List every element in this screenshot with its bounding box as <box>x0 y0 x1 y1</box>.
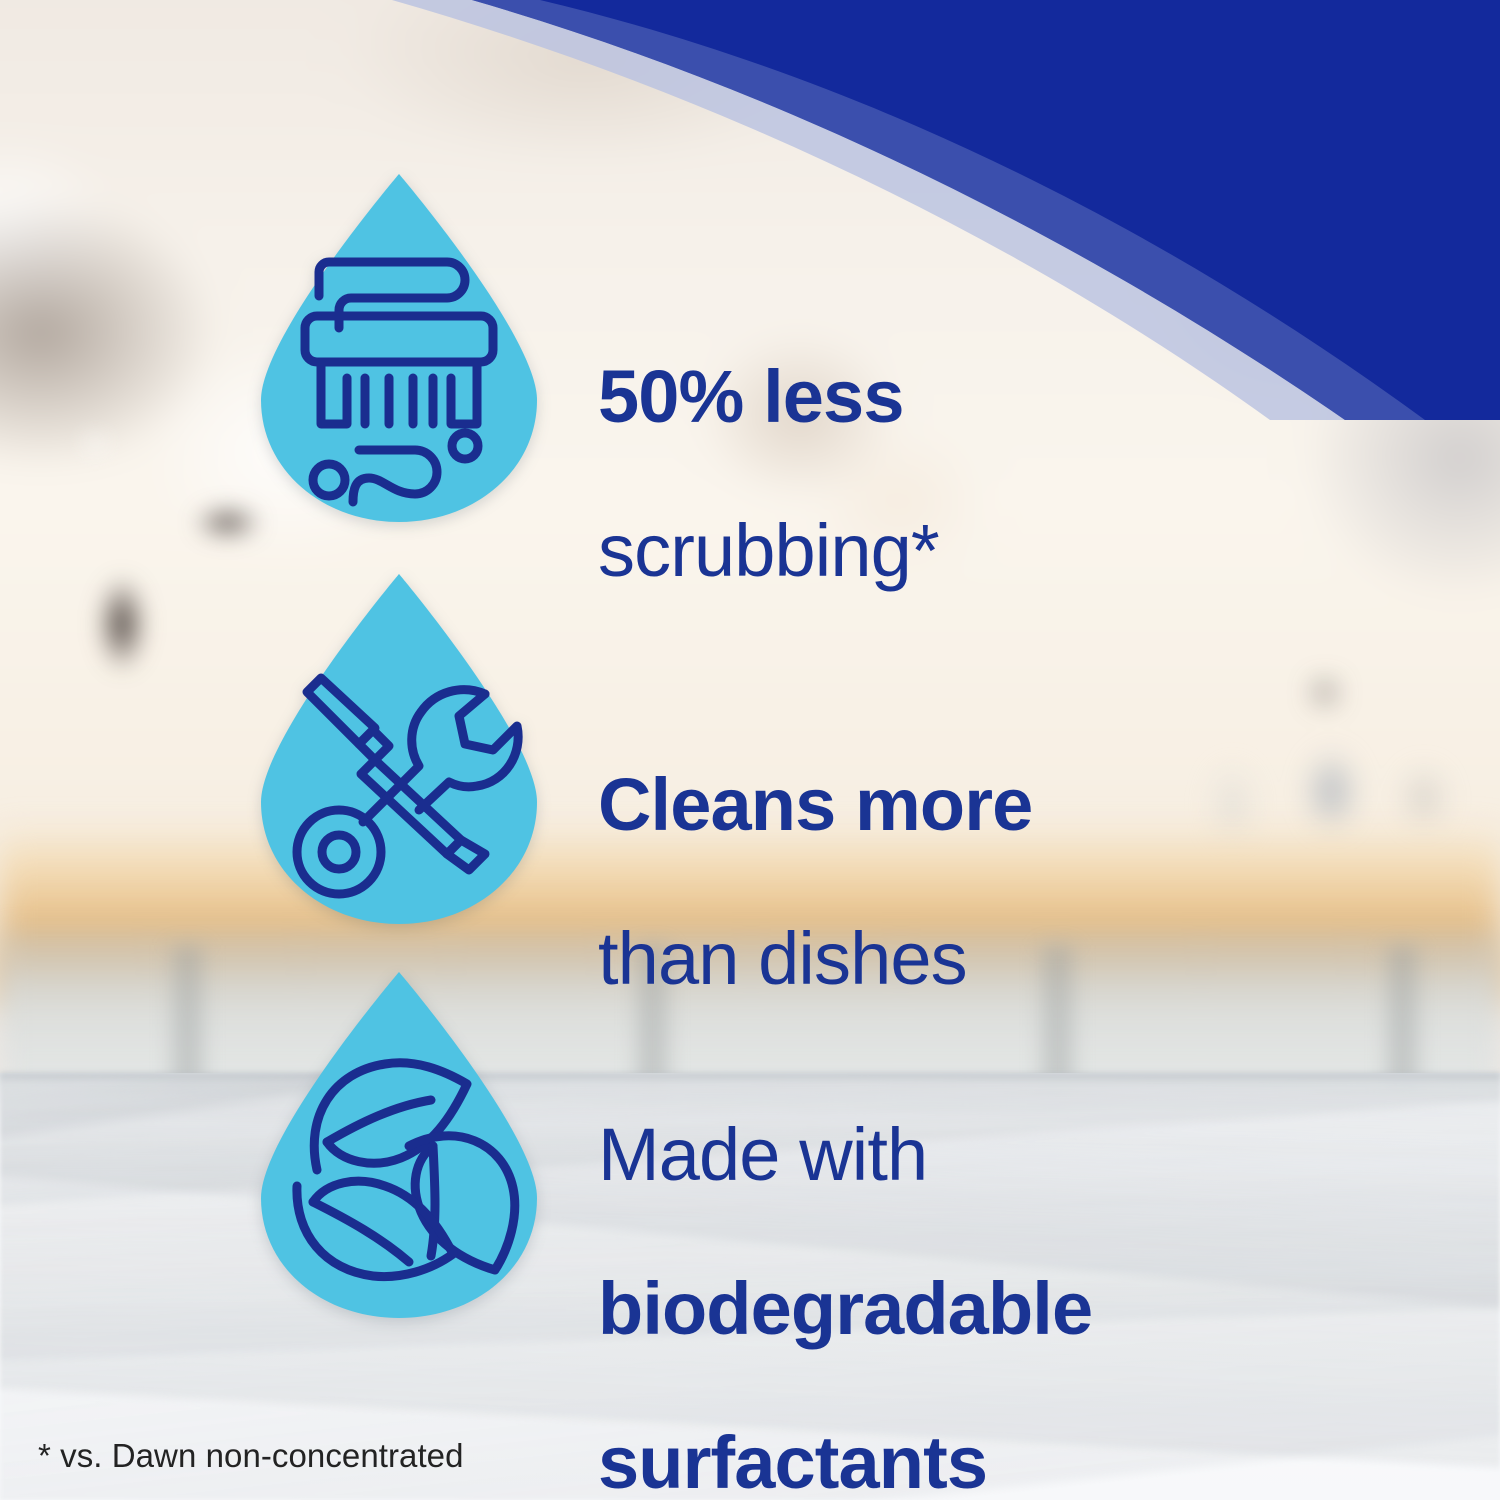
claim-3-line-2: biodegradable <box>598 1271 1092 1348</box>
claim-3-line-3: surfactants <box>598 1425 1092 1500</box>
claim-text-1: 50% less scrubbing* <box>598 282 939 667</box>
claim-text-2: Cleans more than dishes <box>598 690 1032 1075</box>
claim-1-line-2: scrubbing* <box>598 513 939 590</box>
droplet-badge-3 <box>255 966 543 1324</box>
droplet-badge-2 <box>255 568 543 930</box>
claim-1-line-1: 50% less <box>598 359 939 436</box>
droplet-badge-1 <box>255 168 543 528</box>
claim-text-3: Made with biodegradable surfactants <box>598 1040 1092 1500</box>
claim-2-line-2: than dishes <box>598 921 1032 998</box>
claim-3-line-1: Made with <box>598 1117 1092 1194</box>
marketing-image-canvas: 50% less scrubbing* Cleans more than dis… <box>0 0 1500 1500</box>
footnote-disclaimer: * vs. Dawn non-concentrated <box>38 1437 464 1475</box>
claim-2-line-1: Cleans more <box>598 767 1032 844</box>
